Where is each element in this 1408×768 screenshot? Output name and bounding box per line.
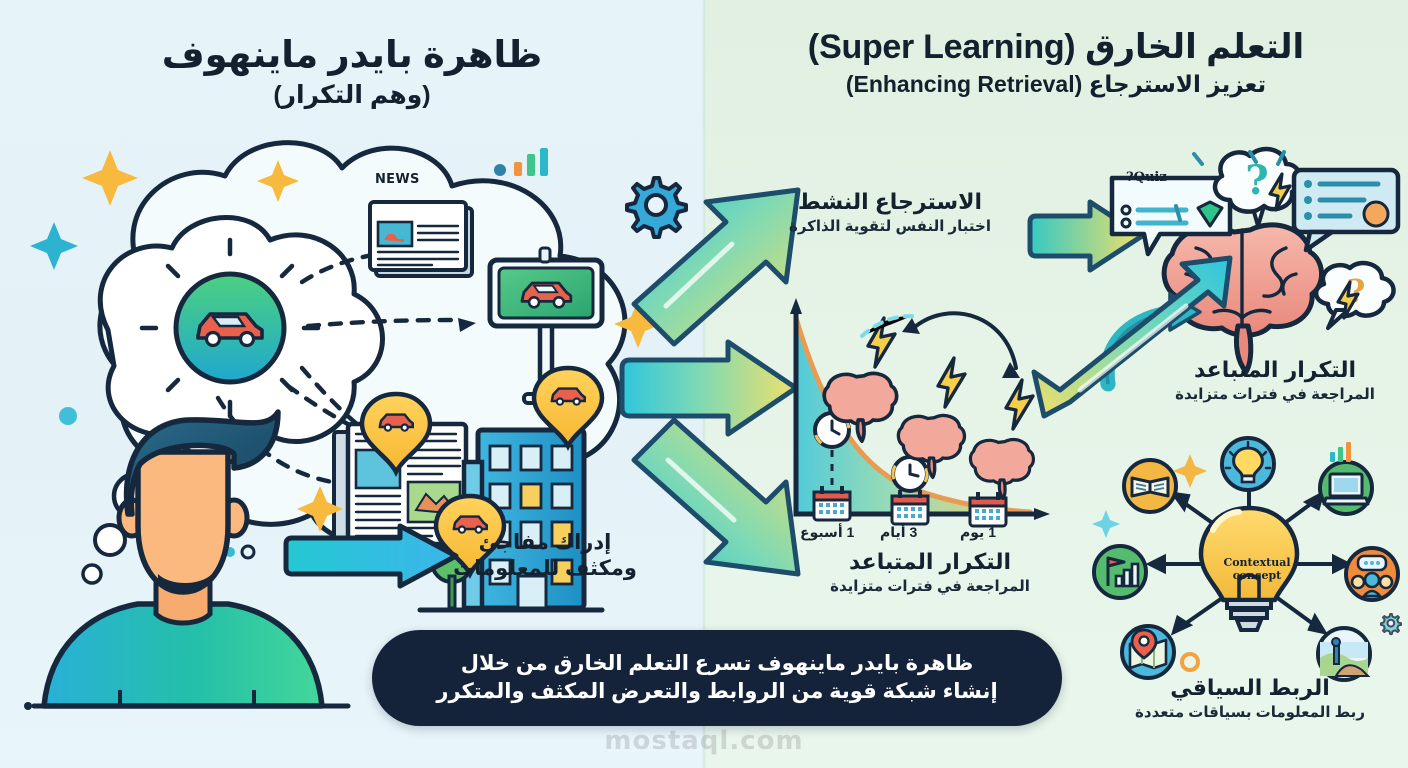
infographic-canvas: ظاهرة بايدر ماينهوف (وهم التكرار) التعلم… bbox=[0, 0, 1408, 768]
contextual-linking-heading: الربط السياقي bbox=[1095, 676, 1405, 701]
contextual-linking-label: الربط السياقي ربط المعلومات بسياقات متعد… bbox=[1095, 676, 1405, 722]
spaced-repetition-right-label: التكرار المتباعد المراجعة في فترات متزاي… bbox=[1145, 358, 1405, 404]
spaced-repetition-right-description: المراجعة في فترات متزايدة bbox=[1145, 386, 1405, 404]
chart-heading: التكرار المتباعد bbox=[800, 550, 1060, 575]
chart-subheading: المراجعة في فترات متزايدة bbox=[800, 578, 1060, 596]
left-panel-subtitle: (وهم التكرار) bbox=[0, 80, 704, 110]
checklist-bubble-icon bbox=[1294, 170, 1398, 250]
contextual-linking-description: ربط المعلومات بسياقات متعددة bbox=[1095, 704, 1405, 722]
active-recall-label: الاسترجاع النشط اختبار النفس لتقوية الذا… bbox=[760, 190, 1020, 236]
active-recall-description: اختبار النفس لتقوية الذاكرة bbox=[760, 218, 1020, 236]
summary-banner-line2: إنشاء شبكة قوية من الروابط والتعرض المكث… bbox=[436, 680, 997, 703]
chart-caption: التكرار المتباعد المراجعة في فترات متزاي… bbox=[800, 550, 1060, 596]
hub-icon-people-chat bbox=[1346, 548, 1398, 600]
right-panel-title: التعلم الخارق (Super Learning) bbox=[704, 28, 1408, 67]
right-panel-title-block: التعلم الخارق (Super Learning) تعزيز الا… bbox=[704, 28, 1408, 98]
hub-icon-laptop bbox=[1320, 462, 1372, 514]
hub-icon-bulb bbox=[1222, 438, 1274, 490]
hub-center-label-line2: concept bbox=[1202, 570, 1312, 583]
svg-text:?: ? bbox=[1245, 157, 1268, 204]
signal-bars-icon bbox=[494, 148, 548, 176]
chart-tick-1day: 1 يوم bbox=[960, 524, 996, 541]
hub-center-label: Contextual concept bbox=[1202, 557, 1312, 583]
left-panel-title-block: ظاهرة بايدر ماينهوف (وهم التكرار) bbox=[0, 34, 704, 110]
right-panel-subtitle: تعزيز الاسترجاع (Enhancing Retrieval) bbox=[704, 71, 1408, 99]
left-panel-title: ظاهرة بايدر ماينهوف bbox=[0, 34, 704, 76]
summary-banner: ظاهرة بايدر ماينهوف تسرع التعلم الخارق م… bbox=[372, 630, 1062, 726]
chart-tick-3days: 3 أيام bbox=[880, 524, 917, 541]
chart-tick-week: 1 أسبوع bbox=[800, 524, 854, 541]
hub-icon-landscape bbox=[1318, 628, 1370, 680]
forgetting-curve-chart bbox=[770, 288, 1070, 538]
quiz-bubble-label: Quiz? bbox=[1126, 170, 1167, 185]
hub-icon-map bbox=[1122, 626, 1174, 678]
hub-icon-book bbox=[1124, 460, 1176, 512]
newspaper-masthead-label: NEWS bbox=[375, 172, 420, 187]
active-recall-heading: الاسترجاع النشط bbox=[760, 190, 1020, 215]
hub-icon-flag-chart bbox=[1094, 546, 1146, 598]
summary-banner-line1: ظاهرة بايدر ماينهوف تسرع التعلم الخارق م… bbox=[461, 652, 974, 675]
watermark: mostaql.com bbox=[0, 726, 1408, 756]
newspaper-icon bbox=[370, 202, 472, 276]
spaced-repetition-right-heading: التكرار المتباعد bbox=[1145, 358, 1405, 383]
